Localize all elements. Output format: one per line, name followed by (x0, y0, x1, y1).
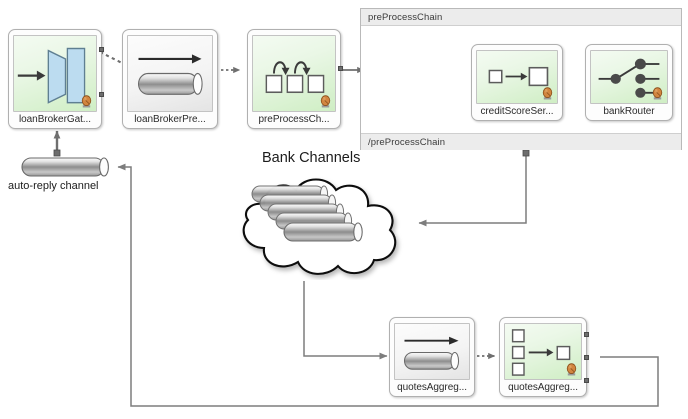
chain-of-steps-icon (252, 35, 336, 112)
node-quotesaggregator-channel[interactable]: quotesAggreg... (389, 317, 475, 397)
bean-icon (541, 87, 554, 101)
autoreply-channel-pipe[interactable] (20, 156, 114, 178)
node-loanbrokergateway[interactable]: loanBrokerGat... (8, 29, 102, 129)
node-label: quotesAggreg... (508, 380, 578, 394)
group-footer-label: /preProcessChain (361, 133, 681, 150)
node-loanbrokerpre-channel[interactable]: loanBrokerPre... (122, 29, 218, 129)
bean-icon (565, 363, 578, 377)
cloud-title-label: Bank Channels (262, 150, 360, 166)
aggregator-icon (504, 323, 582, 380)
node-label: loanBrokerGat... (19, 112, 91, 126)
diagram-canvas: preProcessChain (0, 0, 688, 419)
node-handle-bottom-right[interactable] (584, 378, 589, 383)
pipe-channel-icon (127, 35, 213, 112)
node-bankrouter[interactable]: bankRouter (585, 44, 673, 121)
group-header-label: preProcessChain (361, 9, 681, 26)
node-quotesaggregator-processor[interactable]: quotesAggreg... (499, 317, 587, 397)
node-label: preProcessCh... (259, 112, 330, 126)
node-label: bankRouter (603, 104, 654, 118)
node-handle-top-right[interactable] (584, 332, 589, 337)
node-label: loanBrokerPre... (134, 112, 205, 126)
bean-icon (80, 95, 93, 109)
cloud-bank-channels[interactable] (212, 168, 427, 280)
node-creditscoreservice[interactable]: creditScoreSer... (471, 44, 563, 121)
bean-icon (319, 95, 332, 109)
wire-cloud-to-quotes-channel (304, 281, 387, 356)
node-label: creditScoreSer... (480, 104, 553, 118)
bean-icon (651, 87, 664, 101)
wire-autoreply-to-gateway (54, 131, 60, 156)
pipe-channel-icon (394, 323, 470, 380)
connector-handles[interactable] (523, 150, 529, 156)
group-preprocesschain[interactable]: preProcessChain (360, 8, 682, 150)
recipient-list-router-icon (590, 50, 668, 104)
node-label: quotesAggreg... (397, 380, 467, 394)
node-handle-mid-right[interactable] (584, 355, 589, 360)
gateway-funnel-icon (13, 35, 97, 112)
node-preprocesschain[interactable]: preProcessCh... (247, 29, 341, 129)
node-handle-bottom-right[interactable] (99, 92, 104, 97)
wire-bankrouter-to-cloud (419, 156, 526, 223)
node-handle-right[interactable] (338, 66, 343, 71)
group-body: creditScoreSer... (361, 26, 681, 133)
autoreply-channel-label: auto-reply channel (8, 180, 99, 192)
node-handle-top-right[interactable] (99, 47, 104, 52)
transform-squares-icon (476, 50, 558, 104)
